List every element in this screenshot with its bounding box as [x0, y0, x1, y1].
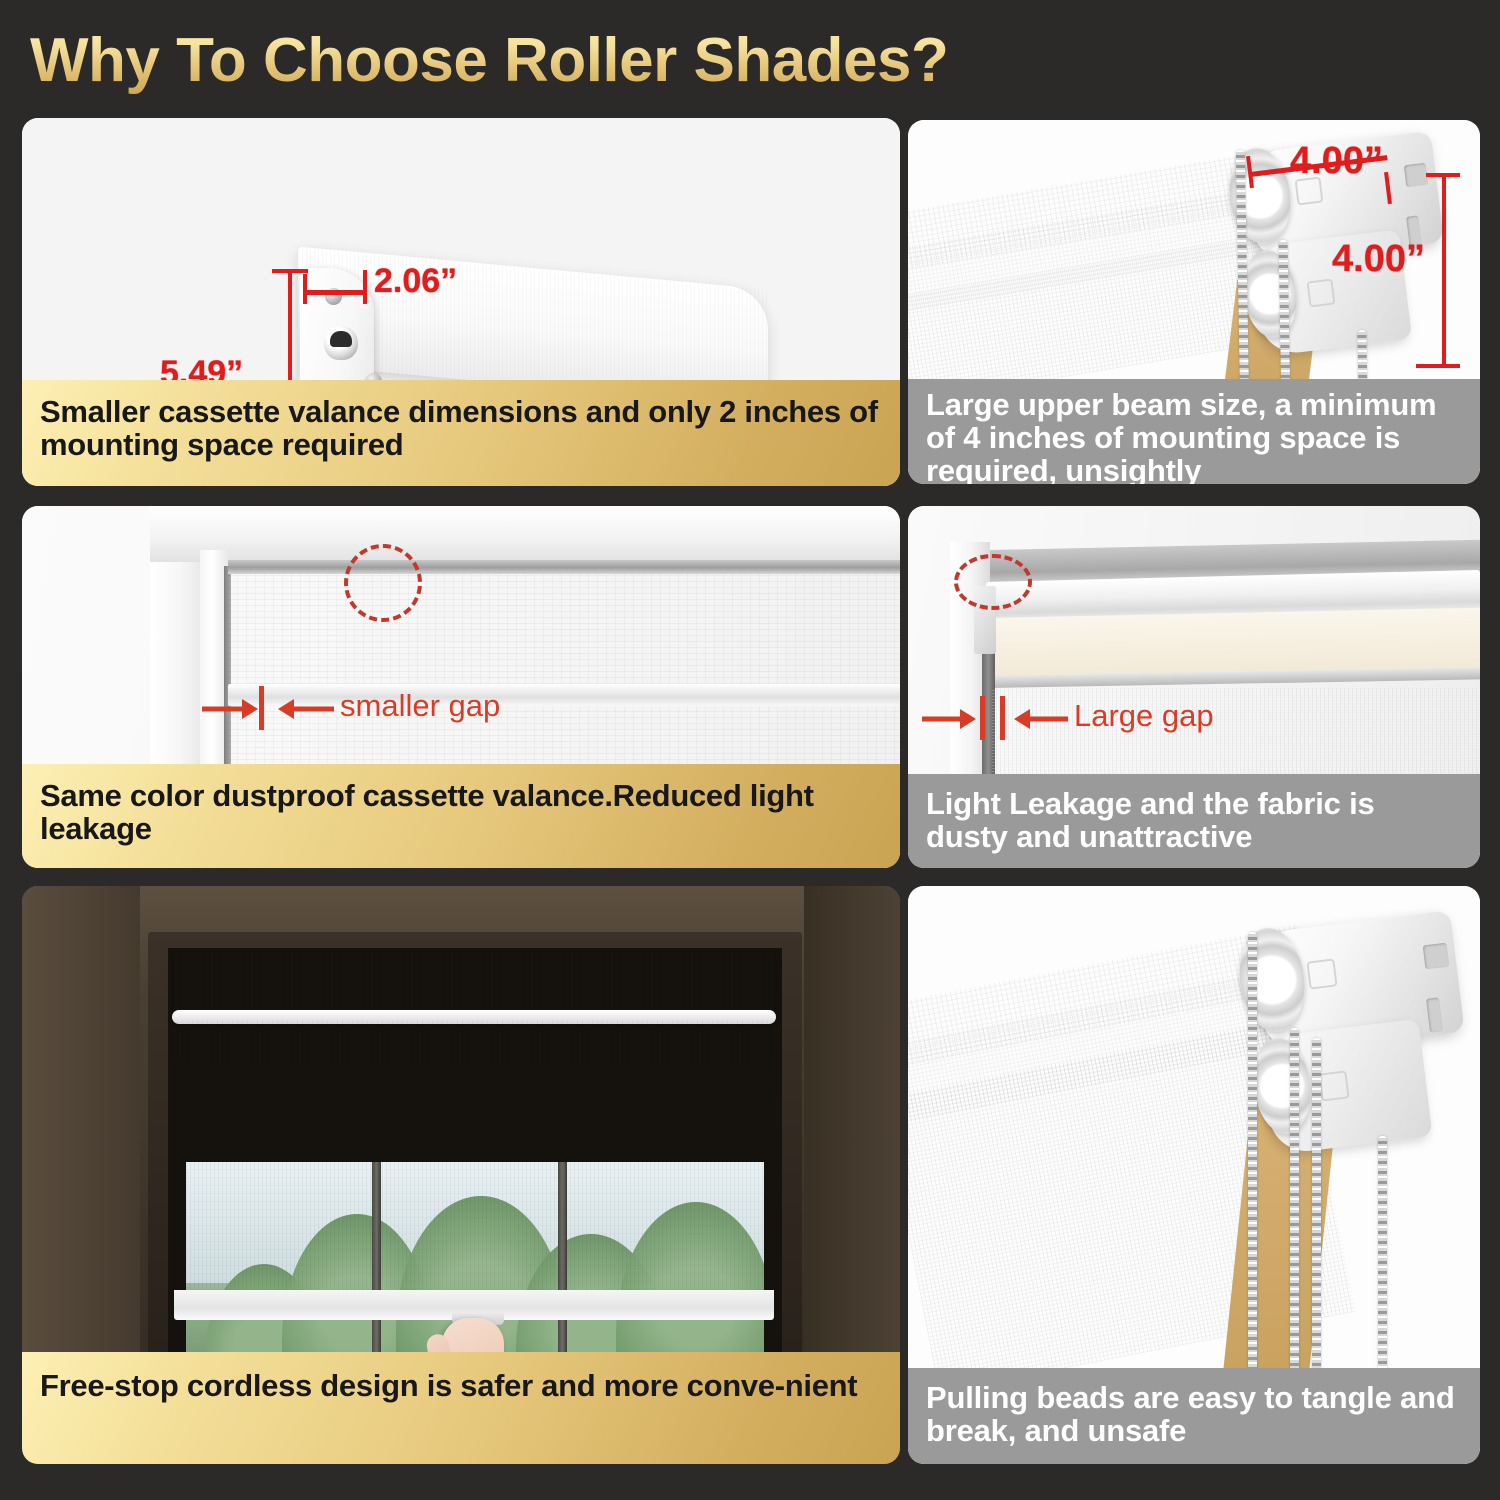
width-dimension-label: 2.06” [374, 262, 457, 301]
width-dimension-tick-right [363, 270, 367, 304]
highlight-circle-icon [344, 544, 422, 622]
bead-chain[interactable] [1290, 1028, 1299, 1418]
height-dimension-tick-top [272, 269, 308, 273]
gap-arrow-left-icon [920, 704, 978, 734]
caption-con-light-leakage: Light Leakage and the fabric is dusty an… [908, 774, 1480, 868]
width-dimension-line [304, 290, 366, 295]
width-dimension-tick-left [303, 274, 307, 304]
bead-chain[interactable] [1248, 932, 1257, 1418]
panel-con-beam-size: 4.00” 4.00” Large upper beam size, a min… [908, 120, 1480, 484]
highlight-circle-icon [954, 554, 1032, 610]
gap-label-large: Large gap [1074, 698, 1214, 734]
panel-con-light-leakage: Large gap Light Leakage and the fabric i… [908, 506, 1480, 868]
gap-arrow-right-icon [276, 694, 336, 724]
beam-height-dimension-label: 4.00” [1332, 238, 1425, 281]
gap-arrow-right-icon [1012, 704, 1070, 734]
caption-con-beam-size: Large upper beam size, a minimum of 4 in… [908, 379, 1480, 484]
beam-height-tick-top [1426, 173, 1460, 177]
panel-pro-dustproof-valance: smaller gap Same color dustproof cassett… [22, 506, 900, 868]
panel-con-pulling-beads: Pulling beads are easy to tangle and bre… [908, 886, 1480, 1464]
beam-width-dimension-label: 4.00” [1290, 140, 1383, 183]
gap-marker-line-right [1000, 696, 1005, 740]
gap-arrow-left-icon [200, 694, 260, 724]
caption-pro-dustproof-valance: Same color dustproof cassette valance.Re… [22, 764, 900, 868]
caption-pro-cordless-design: Free-stop cordless design is safer and m… [22, 1352, 900, 1464]
caption-con-pulling-beads: Pulling beads are easy to tangle and bre… [908, 1368, 1480, 1464]
gap-label-smaller: smaller gap [340, 688, 500, 724]
gap-marker-line [259, 686, 264, 730]
comparison-grid: 2.06” 5.49” Smaller cassette valance dim… [0, 0, 1500, 1500]
beam-height-dimension-line [1442, 174, 1446, 368]
panel-pro-cordless-design: Free-stop cordless design is safer and m… [22, 886, 900, 1464]
beam-height-tick-bottom [1416, 364, 1460, 368]
caption-pro-cassette-size: Smaller cassette valance dimensions and … [22, 380, 900, 486]
gap-marker-line-left [980, 696, 985, 740]
bead-chain[interactable] [1312, 1038, 1321, 1418]
panel-pro-cassette-size: 2.06” 5.49” Smaller cassette valance dim… [22, 118, 900, 486]
